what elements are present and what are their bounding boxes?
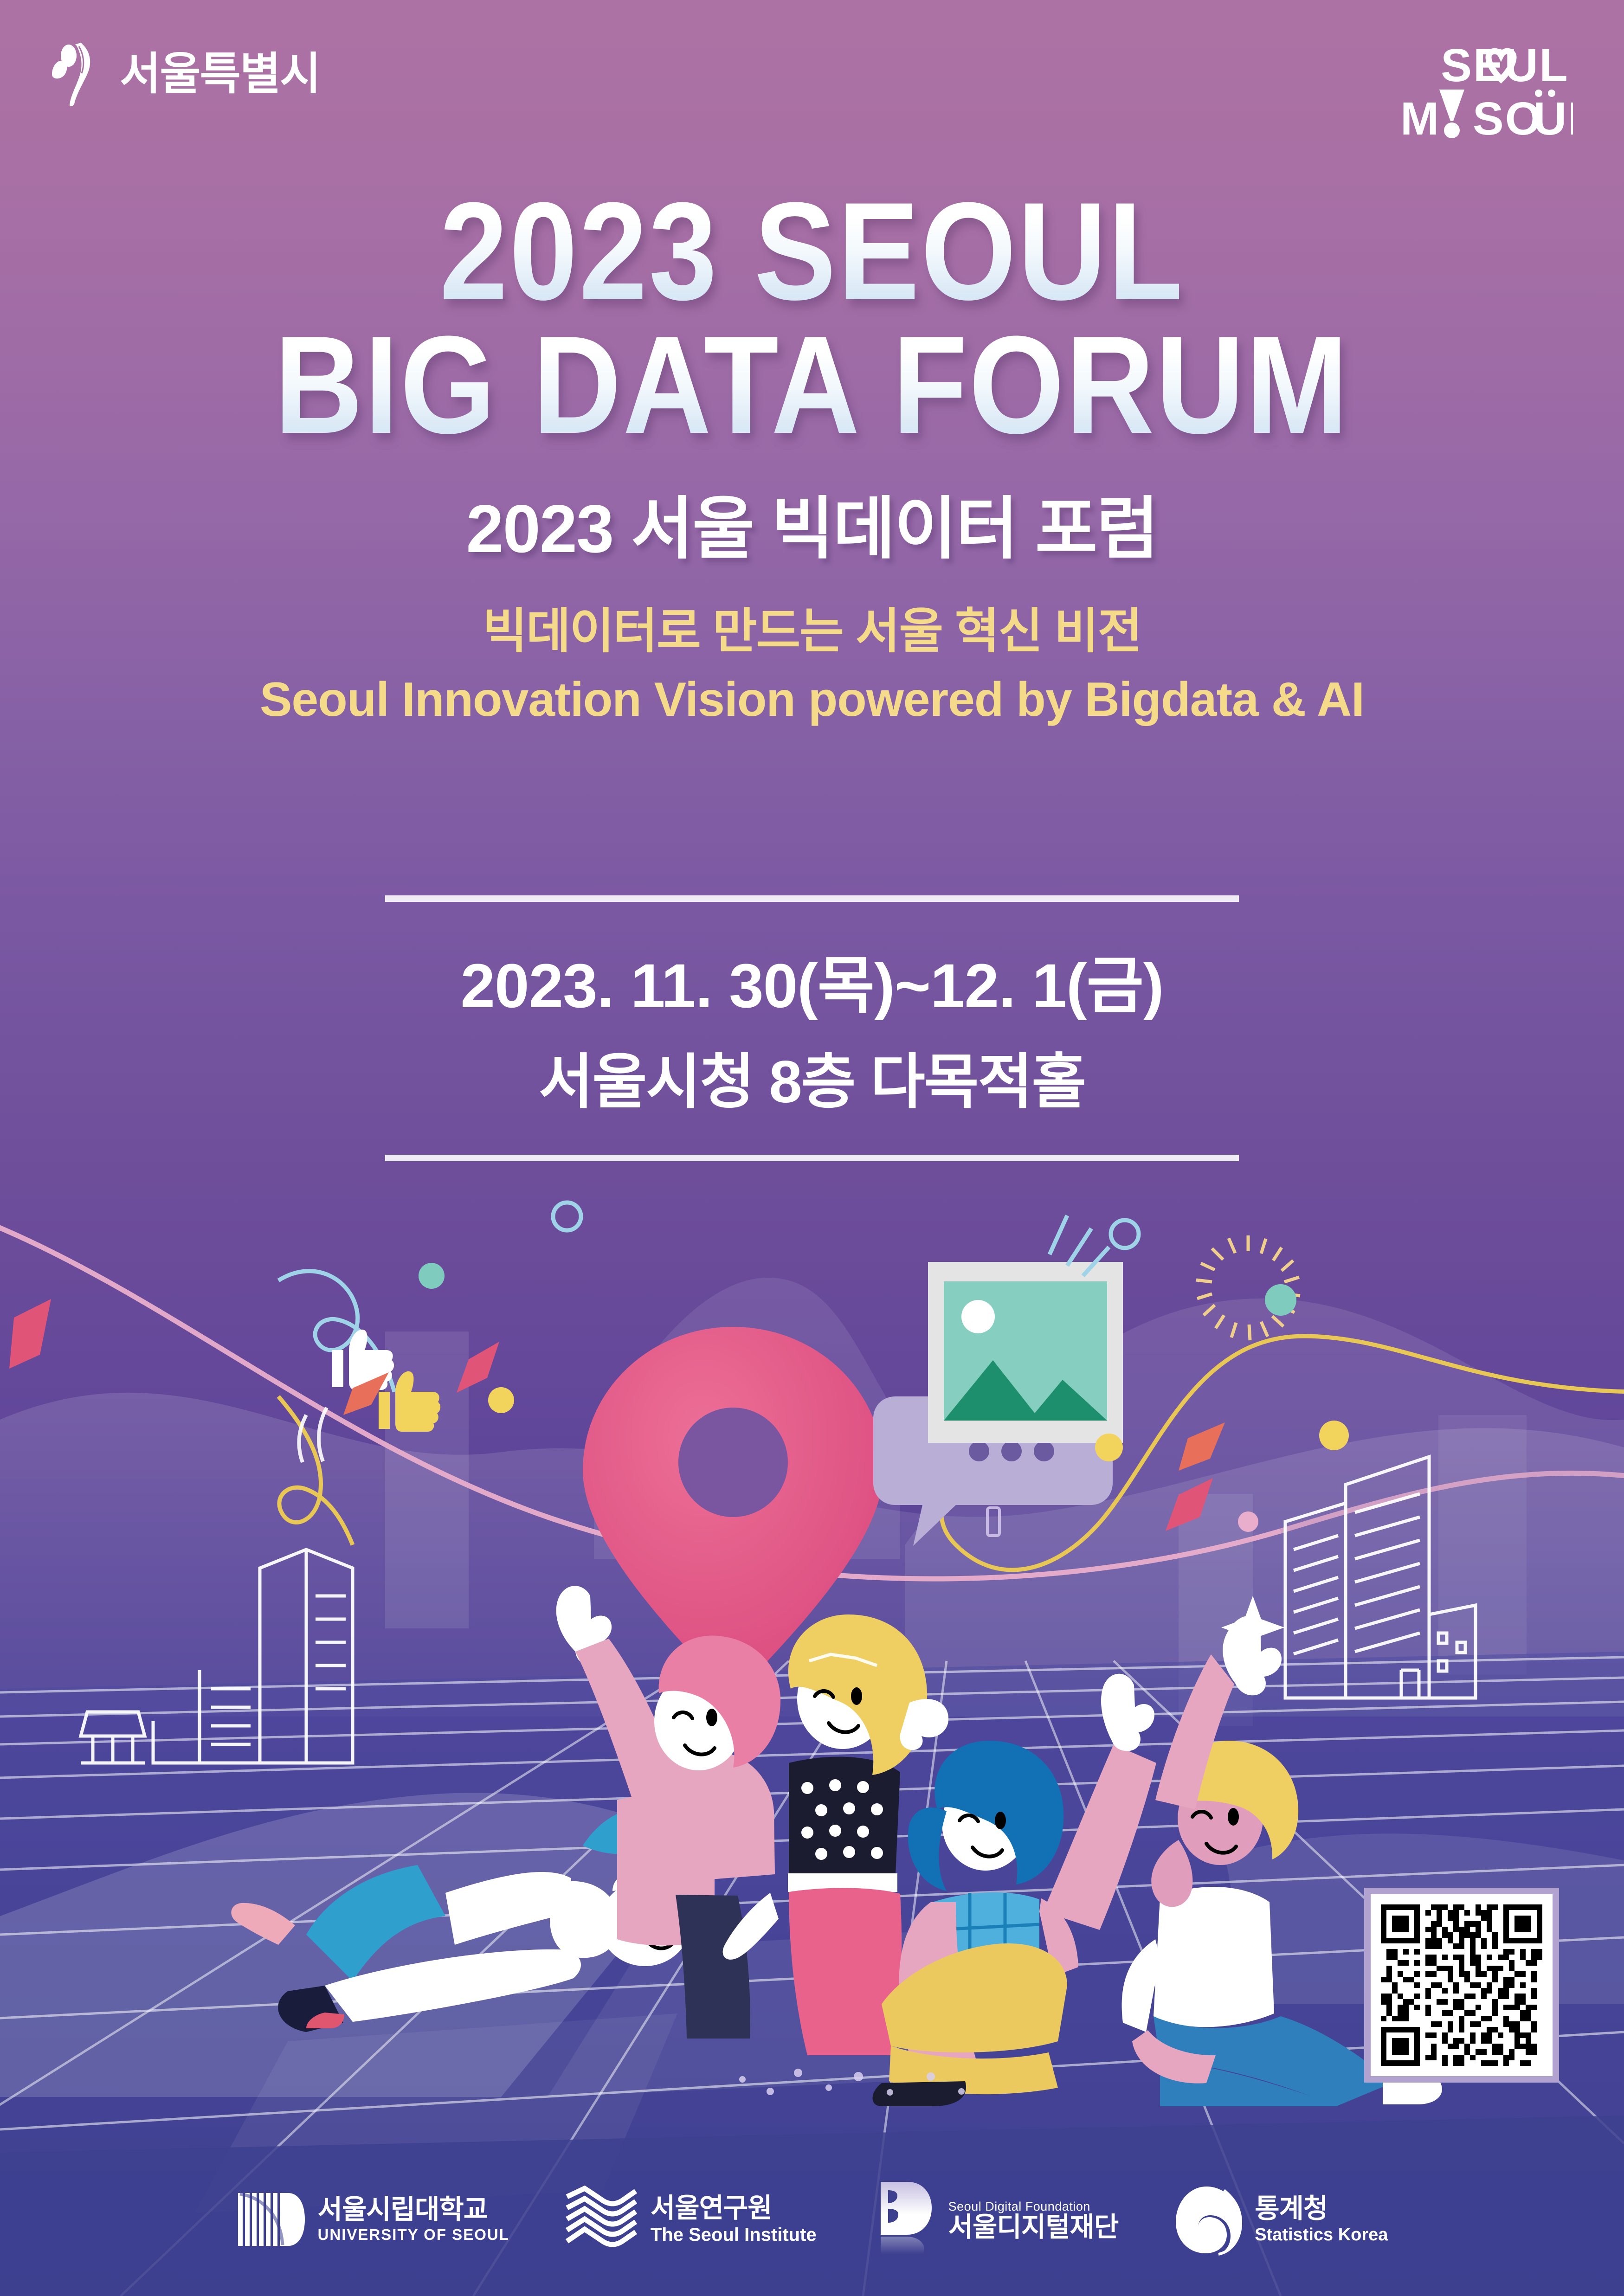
svg-text:M: M — [1400, 93, 1440, 145]
svg-text:UL: UL — [1504, 39, 1569, 91]
city-outline-left — [153, 1550, 353, 1763]
logo-text-seoul-institute: 서울연구원 The Seoul Institute — [651, 2194, 817, 2245]
city-outline-right — [1285, 1457, 1476, 1698]
poster-header: 서울특별시 SE UL M SO UL — [0, 0, 1624, 195]
photo-card-icon — [928, 1262, 1123, 1443]
seoul-city-logo: 서울특별시 — [46, 42, 320, 107]
svg-text:SO: SO — [1473, 93, 1542, 145]
logo-text-statistics-korea: 통계청 Statistics Korea — [1255, 2195, 1388, 2245]
dot-teal-left — [419, 1263, 445, 1289]
logo-seoul-institute: 서울연구원 The Seoul Institute — [564, 2185, 817, 2254]
circle-outline-right — [1111, 1220, 1139, 1248]
logo-en-statistics-korea: Statistics Korea — [1255, 2226, 1388, 2245]
divider-top — [385, 895, 1239, 902]
diamond-pink-right — [1166, 1478, 1213, 1531]
logo-text-seoul-digital-foundation: Seoul Digital Foundation 서울디지털재단 — [948, 2197, 1119, 2241]
logo-statistics-korea: 통계청 Statistics Korea — [1173, 2184, 1388, 2256]
character-pink-peace — [556, 1586, 780, 2039]
svg-text:SE: SE — [1441, 39, 1505, 91]
seoul-my-soul-logo: SE UL M SO UL — [1373, 35, 1573, 151]
diamond-orange-right — [1179, 1422, 1225, 1471]
tagline-korean: 빅데이터로 만드는 서울 혁신 비전 — [0, 601, 1624, 662]
qr-code-block[interactable] — [1364, 1888, 1559, 2083]
event-info-block: 2023. 11. 30(목)~12. 1(금) 서울시청 8층 다목적홀 — [385, 895, 1239, 1161]
thumbs-up-white-icon — [332, 1330, 394, 1390]
logo-kr-university-of-seoul: 서울시립대학교 — [318, 2196, 509, 2224]
qr-code-inner — [1371, 1894, 1553, 2076]
shop-awning-icon — [81, 1712, 145, 1763]
seoul-digital-foundation-logo-icon — [871, 2180, 936, 2259]
dot-teal-right — [1265, 1284, 1296, 1316]
tagline-block: 빅데이터로 만드는 서울 혁신 비전 Seoul Innovation Visi… — [0, 601, 1624, 731]
tagline-english: Seoul Innovation Vision powered by Bigda… — [0, 669, 1624, 731]
forum-title-korean: 2023 서울 빅데이터 포럼 — [0, 474, 1624, 572]
dot-yellow-right2 — [1319, 1421, 1349, 1450]
qr-code-icon — [1381, 1904, 1542, 2066]
logo-en-seoul-digital-foundation: Seoul Digital Foundation — [948, 2200, 1119, 2213]
logo-seoul-digital-foundation: Seoul Digital Foundation 서울디지털재단 — [871, 2180, 1119, 2259]
seoul-my-soul-wordmark-icon: SE UL M SO UL — [1373, 35, 1573, 151]
seoul-city-logo-label: 서울특별시 — [120, 52, 320, 96]
event-date: 2023. 11. 30(목)~12. 1(금) — [385, 935, 1239, 1025]
circle-outline-left — [553, 1203, 581, 1230]
logo-en-university-of-seoul: UNIVERSITY OF SEOUL — [318, 2227, 509, 2243]
logo-kr-seoul-institute: 서울연구원 — [651, 2194, 817, 2223]
poster-root: 서울특별시 SE UL M SO UL 2023 SEOUL BIG DATA … — [0, 0, 1624, 2296]
motion-lines-left — [299, 1408, 327, 1462]
logo-en-seoul-institute: The Seoul Institute — [651, 2225, 817, 2245]
small-rect-outline — [987, 1508, 999, 1536]
dot-yellow-right — [1095, 1434, 1123, 1461]
forum-title-line1: 2023 SEOUL — [97, 186, 1527, 316]
seoul-city-emblem-icon — [46, 42, 107, 107]
dot-yellow-left — [488, 1387, 514, 1413]
logo-kr-statistics-korea: 통계청 — [1255, 2195, 1388, 2223]
diamond-pink-edge — [9, 1299, 51, 1369]
statistics-korea-logo-icon — [1173, 2184, 1243, 2256]
forum-title-line2: BIG DATA FORUM — [97, 319, 1527, 450]
logo-kr-seoul-digital-foundation: 서울디지털재단 — [948, 2213, 1119, 2242]
seoul-institute-logo-icon — [564, 2185, 638, 2254]
university-of-seoul-logo-icon — [236, 2185, 306, 2254]
logo-text-university-of-seoul: 서울시립대학교 UNIVERSITY OF SEOUL — [318, 2196, 509, 2243]
diamond-pink-left — [457, 1342, 499, 1393]
footer-logo-bar: 서울시립대학교 UNIVERSITY OF SEOUL 서울연구원 The Se… — [0, 2143, 1624, 2296]
logo-university-of-seoul: 서울시립대학교 UNIVERSITY OF SEOUL — [236, 2185, 509, 2254]
dot-pink-right — [1238, 1511, 1258, 1532]
event-venue: 서울시청 8층 다목적홀 — [385, 1034, 1239, 1119]
title-block: 2023 SEOUL BIG DATA FORUM 2023 서울 빅데이터 포… — [0, 186, 1624, 731]
svg-text:UL: UL — [1533, 93, 1573, 145]
